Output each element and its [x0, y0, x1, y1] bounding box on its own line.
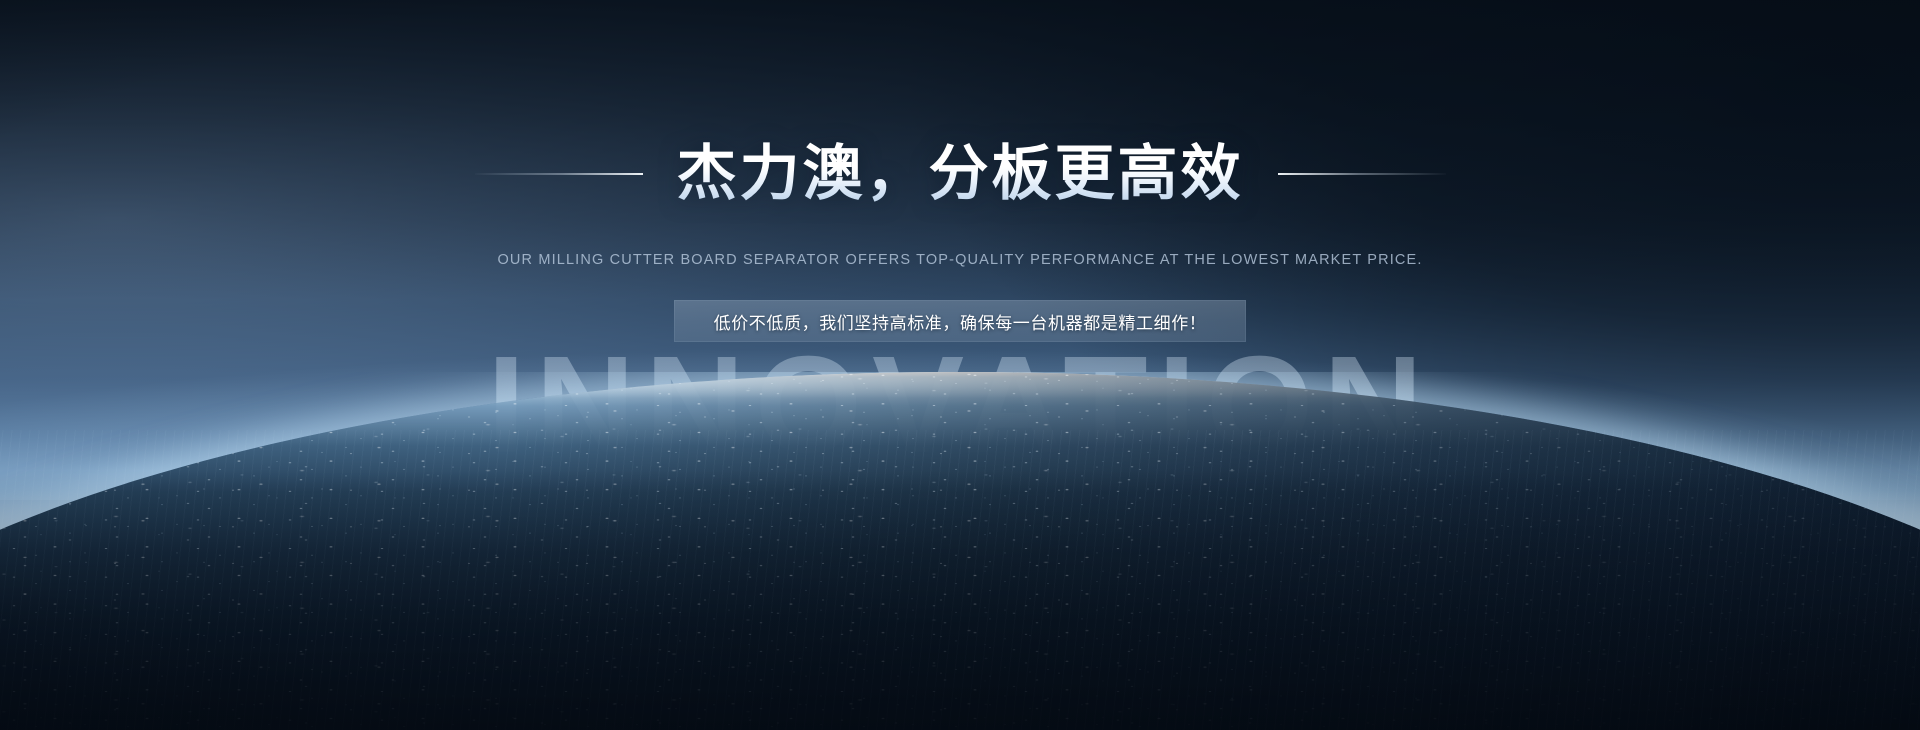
hero-banner: INNOVATION 杰力澳，分板更高效 OUR MILLING CUTTER … [0, 0, 1920, 730]
hero-subtitle: OUR MILLING CUTTER BOARD SEPARATOR OFFER… [0, 252, 1920, 268]
tagline-text: 低价不低质，我们坚持高标准，确保每一台机器都是精工细作！ [714, 309, 1207, 334]
title-row: 杰力澳，分板更高效 [0, 142, 1920, 205]
page-title: 杰力澳，分板更高效 [677, 142, 1244, 205]
rule-left-icon [475, 173, 643, 175]
tagline-banner: 低价不低质，我们坚持高标准，确保每一台机器都是精工细作！ [674, 300, 1246, 342]
city-lights [0, 372, 1920, 730]
city-lights-layer-c [0, 372, 1920, 730]
rule-right-icon [1278, 173, 1446, 175]
